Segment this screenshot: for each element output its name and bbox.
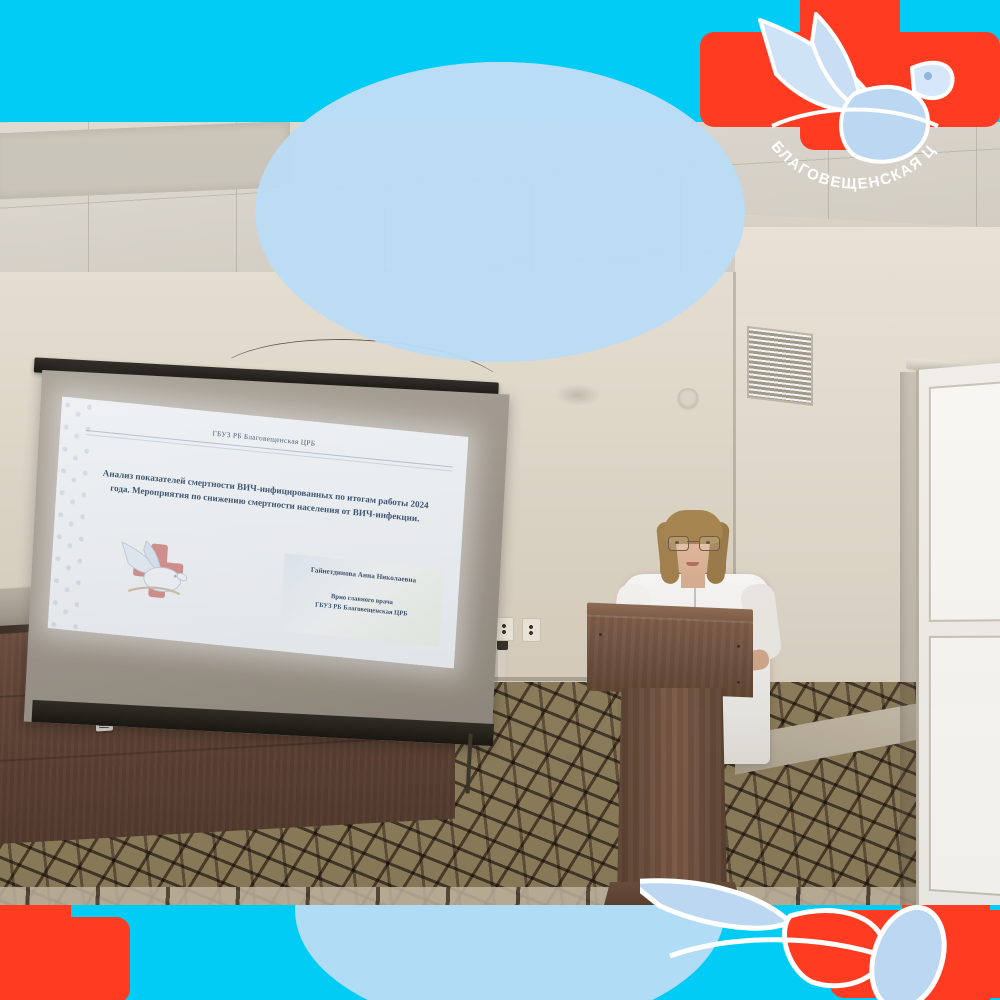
glasses-icon — [668, 536, 718, 549]
white-door[interactable] — [916, 361, 1000, 905]
screen-surface: ГБУЗ РБ Благовещенская ЦРБ Анализ показа… — [24, 370, 510, 746]
presentation-slide: ГБУЗ РБ Благовещенская ЦРБ Анализ показа… — [48, 396, 469, 668]
post-canvas: ГБУЗ РБ Благовещенская ЦРБ Анализ показа… — [0, 0, 1000, 1000]
slide-title: Анализ показателей смертности ВИЧ-инфици… — [92, 466, 438, 527]
podium-front-panel — [587, 615, 753, 698]
wall-outlet-1 — [495, 617, 514, 641]
brand-logo: БЛАГОВЕЩЕНСКАЯ ЦРБ — [742, 8, 972, 193]
slide-ornament — [48, 396, 92, 631]
slide-logo-icon — [107, 532, 203, 617]
speaker-mouth — [686, 562, 699, 566]
podium-column — [617, 688, 727, 896]
brand-logo-bottom-fragment — [640, 872, 1000, 1000]
wall-outlet-2 — [522, 618, 541, 642]
arc-top-mask — [240, 122, 770, 422]
